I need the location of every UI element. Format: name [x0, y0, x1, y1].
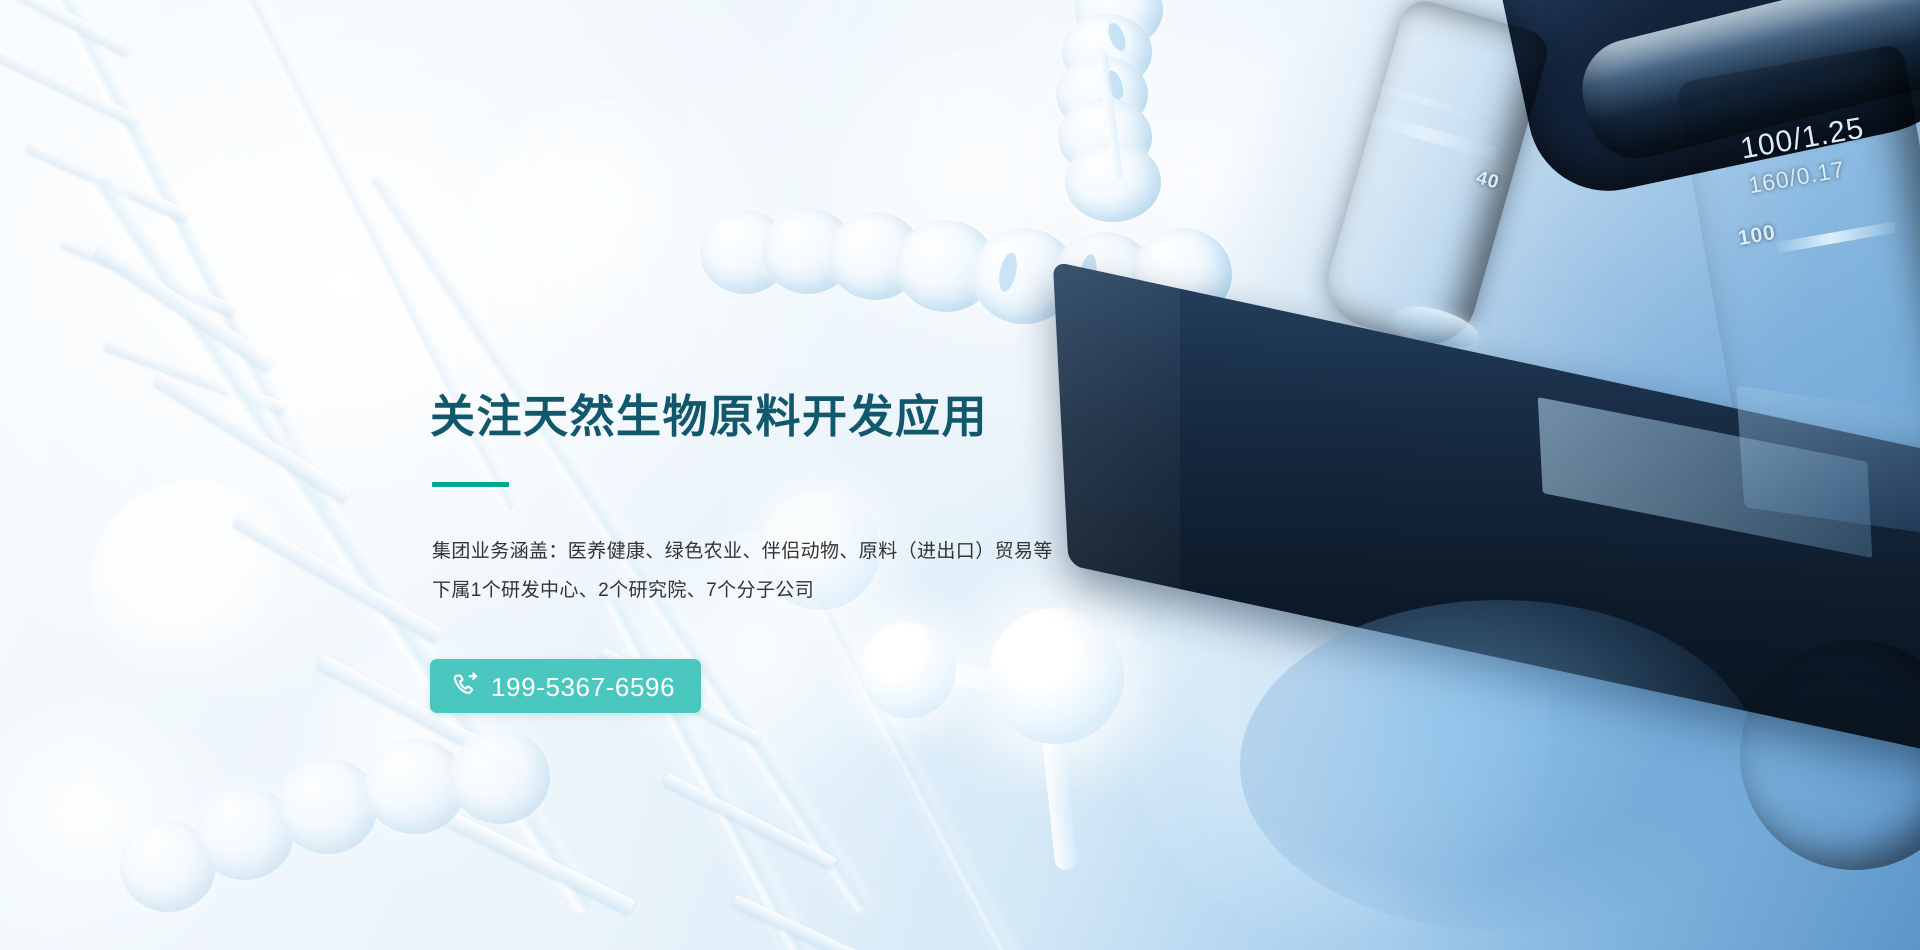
phone-cta-button[interactable]: 199-5367-6596	[430, 659, 701, 713]
microscope-focus-knob	[1740, 640, 1920, 870]
phone-forward-icon	[452, 672, 480, 700]
microscope-stage-clip	[1736, 386, 1920, 535]
title-divider	[432, 482, 509, 487]
microscope-objective-main	[1317, 0, 1552, 354]
microscope-objective-highlight	[1371, 83, 1494, 124]
microscope-lens-glass	[1391, 299, 1483, 355]
description-line-1: 集团业务涵盖：医养健康、绿色农业、伴侣动物、原料（进出口）贸易等	[432, 533, 1330, 572]
description-line-2: 下属1个研发中心、2个研究院、7个分子公司	[432, 572, 1330, 611]
microscope-objective-secondary	[1265, 0, 1446, 152]
microscope-turret-ring	[1572, 0, 1920, 169]
page-title: 关注天然生物原料开发应用	[430, 392, 1330, 442]
microscope-objective-highlight	[1369, 112, 1499, 161]
microscope-slide	[1538, 397, 1873, 558]
microscope-marking-objective-secondary: 160/0.17	[1746, 156, 1847, 200]
microscope-marking-objective-primary: 100/1.25	[1738, 111, 1867, 166]
microscope-objective-right	[1675, 43, 1920, 497]
microscope-turret	[1484, 0, 1920, 206]
microscope-marking-100: 100	[1736, 221, 1778, 251]
microscope-objective-right-band	[1776, 222, 1896, 254]
hero-banner: 40 100/1.25 160/0.17 100 关注天然生物原料开发应用 集团…	[0, 0, 1920, 950]
hero-description: 集团业务涵盖：医养健康、绿色农业、伴侣动物、原料（进出口）贸易等 下属1个研发中…	[432, 533, 1330, 611]
microscope-marking-40: 40	[1473, 167, 1501, 195]
phone-number-label: 199-5367-6596	[491, 674, 675, 700]
hero-content: 关注天然生物原料开发应用 集团业务涵盖：医养健康、绿色农业、伴侣动物、原料（进出…	[430, 392, 1330, 713]
